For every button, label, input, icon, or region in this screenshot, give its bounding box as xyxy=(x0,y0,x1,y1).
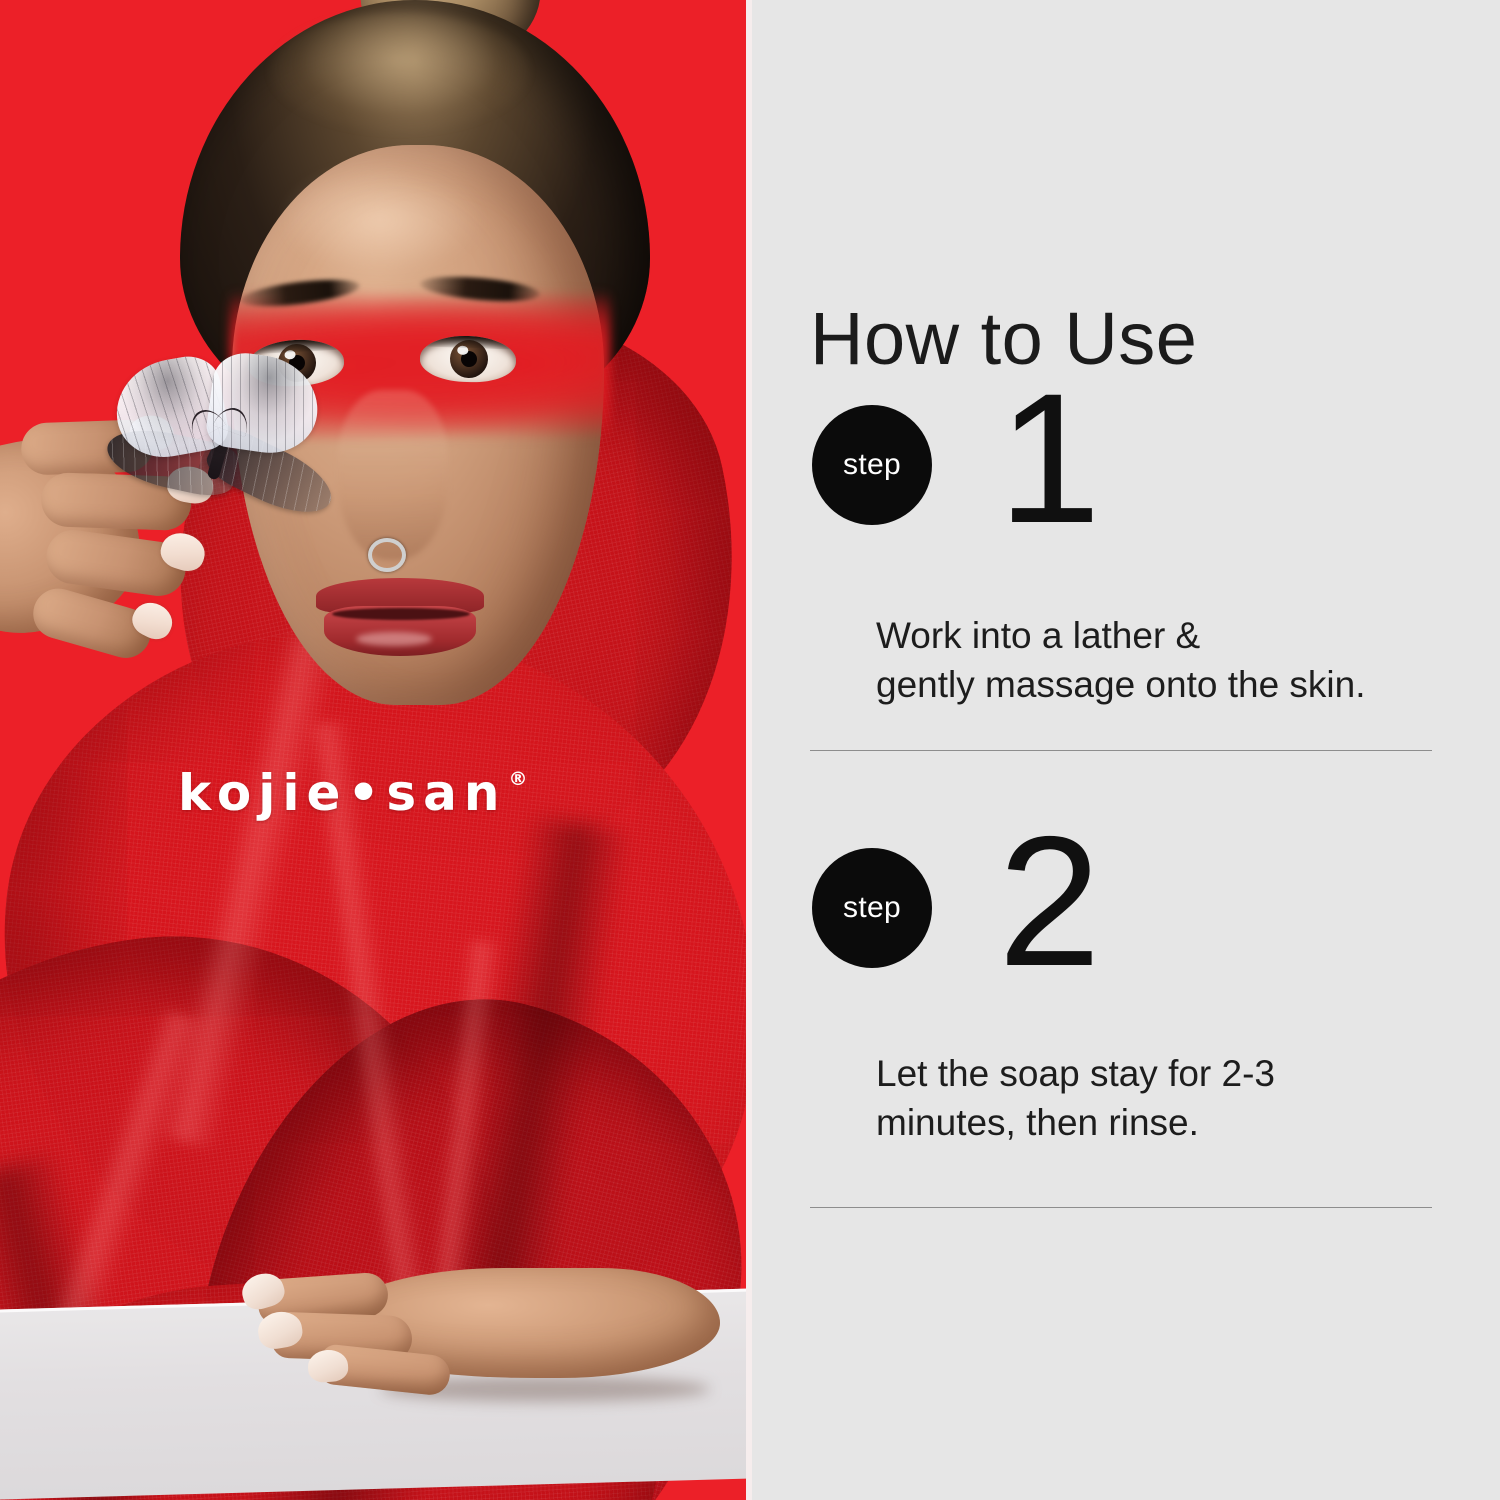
step-2-badge: step xyxy=(812,848,932,968)
step-1-header: step 1 xyxy=(810,405,1440,585)
divider-after-step-1 xyxy=(810,750,1432,751)
step-item-1: step 1 Work into a lather & gently massa… xyxy=(810,405,1440,585)
lower-fingernail-3 xyxy=(307,1349,349,1384)
registered-trademark-icon: ® xyxy=(509,770,528,789)
step-2-number: 2 xyxy=(998,810,1099,995)
product-model-photo: kojie•san ® xyxy=(0,0,746,1500)
butterfly-wing-veins-right xyxy=(204,349,324,459)
step-2-description: Let the soap stay for 2-3 minutes, then … xyxy=(876,1050,1275,1148)
step-2-header: step 2 xyxy=(810,848,1440,1028)
step-1-badge: step xyxy=(812,405,932,525)
eyelash-right xyxy=(420,334,516,349)
step-1-badge-label: step xyxy=(843,450,901,480)
photo-stage: kojie•san ® xyxy=(0,0,746,1500)
step-item-2: step 2 Let the soap stay for 2-3 minutes… xyxy=(810,848,1440,1028)
brand-logo: kojie•san ® xyxy=(178,768,528,818)
nose-ring xyxy=(368,538,406,572)
step-1-description: Work into a lather & gently massage onto… xyxy=(876,612,1366,710)
divider-after-step-2 xyxy=(810,1207,1432,1208)
lip-gloss xyxy=(356,632,432,646)
lips xyxy=(316,578,484,662)
hair-highlight xyxy=(270,12,530,132)
nose xyxy=(338,390,448,560)
step-1-number: 1 xyxy=(998,367,1099,552)
brand-name: kojie•san xyxy=(178,768,507,818)
butterfly-upper-wing-right xyxy=(204,349,324,459)
model-hand-lower xyxy=(200,1258,720,1438)
butterfly-icon xyxy=(112,352,342,522)
mouth-line xyxy=(332,608,470,620)
step-2-badge-label: step xyxy=(843,893,901,923)
how-to-use-card: kojie•san ® How to Use step 1 Work into … xyxy=(0,0,1500,1500)
forehead-highlight xyxy=(280,165,480,275)
